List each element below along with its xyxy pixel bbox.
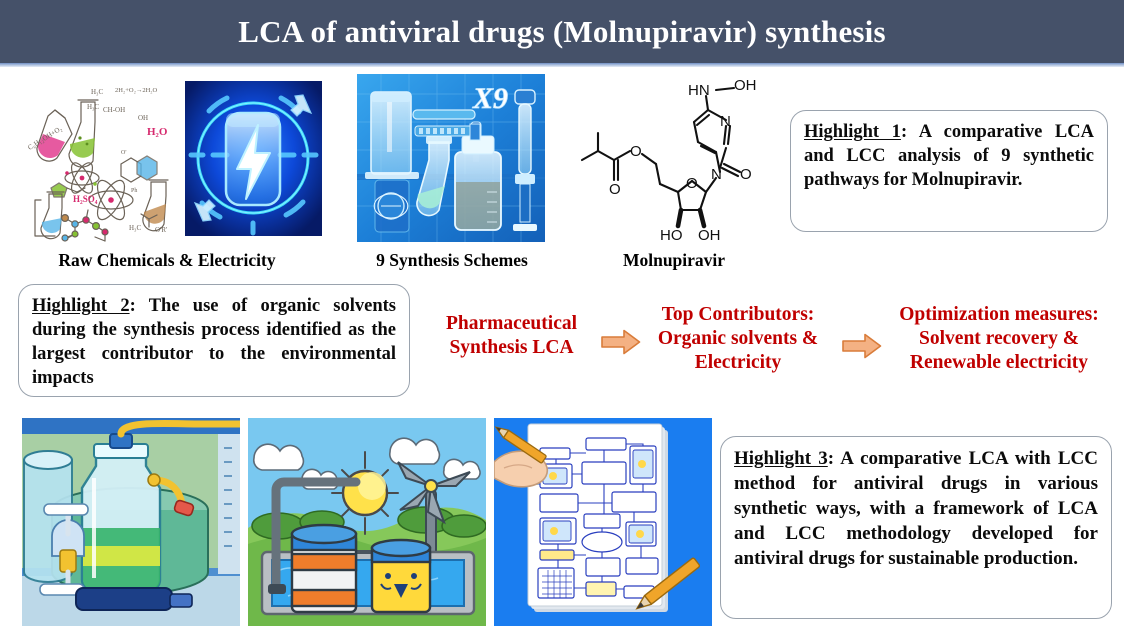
flow-step-2-line-1: Top Contributors:	[638, 303, 838, 327]
flow-step-top-contributors: Top Contributors: Organic solvents & Ele…	[638, 303, 838, 374]
electricity-battery-icon-illustration	[185, 81, 322, 236]
highlight-1-label: Highlight 1	[804, 122, 901, 142]
svg-text:H₃C: H₃C	[91, 88, 103, 96]
atom-label-HO: HO	[660, 227, 683, 242]
highlight-1-separator: :	[901, 122, 919, 142]
svg-text:H₃C: H₃C	[129, 224, 141, 232]
highlight-3-text: Highlight 3: A comparative LCA with LCC …	[734, 446, 1098, 571]
atom-label-N-ring: N	[720, 113, 731, 130]
flow-step-3-line-2: Solvent recovery &	[880, 327, 1118, 351]
atom-label-HN: HN	[688, 82, 710, 99]
atom-label-O-ketone: O	[609, 181, 621, 198]
solvent-recovery-distillation-illustration	[22, 418, 240, 626]
renewable-energy-illustration	[248, 418, 486, 626]
highlight-2-label: Highlight 2	[32, 296, 130, 316]
atom-label-O-ester: O	[630, 143, 642, 160]
chemistry-doodles-illustration: H₃C 2H₂+O₂→2H₂O H₃C CH-OH OH H₂O C₆H₁₂OH…	[25, 72, 180, 242]
caption-raw-chemicals-electricity: Raw Chemicals & Electricity	[22, 250, 312, 271]
lca-framework-flowchart-illustration	[494, 418, 712, 626]
atom-label-O-carbonyl: O	[740, 166, 752, 183]
page-header-banner: LCA of antiviral drugs (Molnupiravir) sy…	[0, 0, 1124, 63]
svg-text:2H₂+O₂→2H₂O: 2H₂+O₂→2H₂O	[115, 87, 158, 94]
flow-step-1-line-1: Pharmaceutical	[424, 312, 599, 336]
flow-step-2-line-3: Electricity	[638, 351, 838, 375]
highlight-2-separator: :	[130, 296, 149, 316]
flow-step-1-line-2: Synthesis LCA	[424, 336, 599, 360]
flow-step-2-line-2: Organic solvents &	[638, 327, 838, 351]
atom-label-N-glyco: N	[711, 166, 722, 183]
svg-text:H₂O: H₂O	[147, 126, 168, 138]
flow-step-pharmaceutical-synthesis-lca: Pharmaceutical Synthesis LCA	[424, 312, 599, 360]
highlight-3-separator: :	[828, 448, 840, 469]
x9-overlay-label: X9	[472, 82, 508, 115]
highlight-3-label: Highlight 3	[734, 448, 828, 469]
flow-step-optimization-measures: Optimization measures: Solvent recovery …	[880, 303, 1118, 374]
molnupiravir-structure: HN OH N O N O O O HO OH	[568, 80, 778, 242]
highlight-2-text: Highlight 2: The use of organic solvents…	[32, 294, 396, 390]
flow-step-3-line-1: Optimization measures:	[880, 303, 1118, 327]
synthesis-lab-illustration: X9	[357, 74, 545, 242]
svg-text:Ph: Ph	[131, 188, 137, 194]
page-title: LCA of antiviral drugs (Molnupiravir) sy…	[238, 14, 886, 50]
atom-label-OH-bottom: OH	[698, 227, 721, 242]
svg-text:O': O'	[121, 150, 126, 156]
svg-text:O'R': O'R'	[155, 226, 167, 234]
flow-step-3-line-3: Renewable electricity	[880, 351, 1118, 375]
svg-text:OH: OH	[138, 114, 148, 122]
highlight-1-text: Highlight 1: A comparative LCA and LCC a…	[804, 120, 1094, 192]
graphical-abstract-page: LCA of antiviral drugs (Molnupiravir) sy…	[0, 0, 1124, 629]
highlight-1-box: Highlight 1: A comparative LCA and LCC a…	[790, 110, 1108, 232]
svg-text:H₃C: H₃C	[87, 103, 99, 111]
arrow-right-1	[601, 329, 641, 355]
header-divider	[0, 63, 1124, 67]
atom-label-O-ring: O	[686, 175, 698, 192]
caption-molnupiravir: Molnupiravir	[568, 250, 780, 271]
caption-9-synthesis-schemes: 9 Synthesis Schemes	[352, 250, 552, 271]
atom-label-OH-top: OH	[734, 80, 757, 94]
highlight-3-box: Highlight 3: A comparative LCA with LCC …	[720, 436, 1112, 619]
svg-text:H₂SO₄: H₂SO₄	[73, 194, 98, 204]
highlight-2-box: Highlight 2: The use of organic solvents…	[18, 284, 410, 397]
arrow-right-2	[842, 333, 882, 359]
svg-text:CH-OH: CH-OH	[103, 106, 125, 114]
